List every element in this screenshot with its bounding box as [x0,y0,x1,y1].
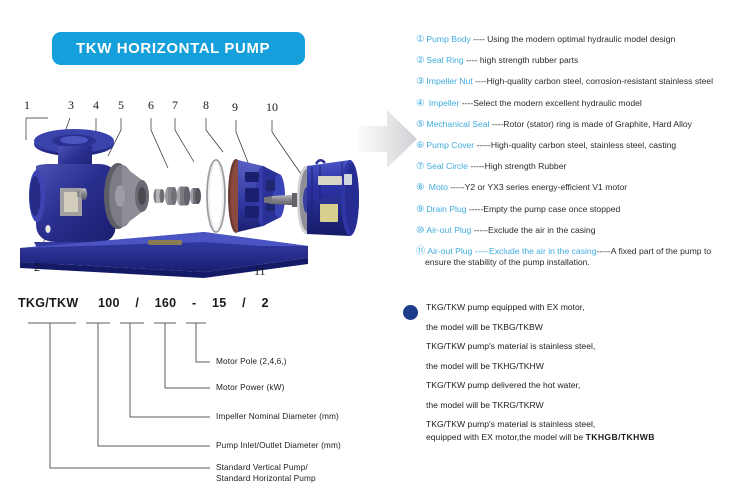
spec-item-name: Seal Circle [426,161,468,171]
spec-item-name: Air-out Plug -----Exclude the air in the… [427,246,596,256]
circled-number-icon: ② [416,54,424,65]
spec-item-name: Moto [426,182,448,192]
circled-number-icon: ① [416,33,424,44]
note-line-1: TKG/TKW pump equipped with EX motor, [426,302,753,312]
circled-number-icon: ⑧ [416,181,424,192]
spec-item-name: Pump Cover [426,140,474,150]
note-line-7: TKG/TKW pump's material is stainless ste… [426,419,753,429]
note-line-8-model: TKHGB/TKHWB [586,432,655,442]
note-line-8-text: equipped with EX motor,the model will be [426,432,586,442]
circled-number-icon: ⑦ [416,160,424,171]
spec-item-desc: -----Empty the pump case once stopped [467,204,621,214]
spec-item-10: ⑩Air-out Plug -----Exclude the air in th… [416,224,752,236]
spec-item-desc: -----High-quality carbon steel, stainles… [474,140,676,150]
spec-item-7: ⑦Seal Circle -----High strength Rubber [416,160,752,172]
note-line-8: equipped with EX motor,the model will be… [426,432,753,442]
spec-item-6: ⑥Pump Cover -----High-quality carbon ste… [416,139,752,151]
spec-item-desc: -----Y2 or YX3 series energy-efficient V… [448,182,627,192]
model-code-label-pump-type-1: Standard Vertical Pump/ [216,462,308,472]
spec-item-8: ⑧ Moto -----Y2 or YX3 series energy-effi… [416,181,752,193]
spec-item-desc: ----High-quality carbon steel, corrosion… [473,76,713,86]
page-title-banner: TKW HORIZONTAL PUMP [52,32,305,65]
spec-item-desc: ----Select the modern excellent hydrauli… [459,98,641,108]
spec-item-name: Impeller Nut [426,76,472,86]
callout-7: 7 [172,98,178,113]
pump-parts-spec-list: ①Pump Body ---- Using the modern optimal… [416,33,752,274]
spec-item-desc-continued: ensure the stability of the pump install… [416,257,752,268]
callout-3: 3 [68,98,74,113]
model-code-diagram: TKG/TKW 100 / 160 - 15 / 2 [10,296,400,494]
callout-9: 9 [232,100,238,115]
spec-item-desc: ---- high strength rubber parts [464,55,579,65]
circled-number-icon: ⑨ [416,203,424,214]
pump-assembly-illustration [8,96,368,286]
spec-item-5: ⑤Mechanical Seal ----Rotor (stator) ring… [416,118,752,130]
circled-number-icon: ⑥ [416,139,424,150]
note-line-5: TKG/TKW pump delivered the hot water, [426,380,753,390]
model-code-label-motor-pole: Motor Pole (2,4,6,) [216,356,287,366]
callout-11: 11 [254,264,266,279]
exploded-pump-figure: 1 3 4 5 6 7 8 9 10 2 11 [8,96,368,286]
spec-item-name: Impeller [426,98,459,108]
callout-2: 2 [34,260,40,275]
spec-item-name: Drain Plug [426,204,466,214]
spec-item-desc: ----Rotor (stator) ring is made of Graph… [489,119,692,129]
bullet-dot-icon [403,305,418,320]
circled-number-icon: ③ [416,75,424,86]
spec-item-desc: ---- Using the modern optimal hydraulic … [471,34,675,44]
circled-number-icon: ⑪ [416,245,425,256]
spec-item-name: Mechanical Seal [426,119,489,129]
spec-item-4: ④ Impeller ----Select the modern excelle… [416,97,752,109]
model-variant-notes: TKG/TKW pump equipped with EX motor, the… [403,302,753,452]
spec-item-name: Air-out Plug [426,225,471,235]
circled-number-icon: ⑤ [416,118,424,129]
model-code-leader-lines [10,296,400,494]
callout-4: 4 [93,98,99,113]
spec-item-name: Seal Ring [426,55,463,65]
callout-1: 1 [24,98,30,113]
spec-item-9: ⑨Drain Plug -----Empty the pump case onc… [416,203,752,215]
spec-item-1: ①Pump Body ---- Using the modern optimal… [416,33,752,45]
spec-item-desc: -----Exclude the air in the casing [471,225,595,235]
callout-5: 5 [118,98,124,113]
spec-item-name: Pump Body [426,34,470,44]
callout-10: 10 [266,100,278,115]
note-line-6: the model will be TKRG/TKRW [426,400,753,410]
model-code-label-impeller-diameter: Impeller Nominal Diameter (mm) [216,411,339,421]
circled-number-icon: ④ [416,97,424,108]
page-canvas: TKW HORIZONTAL PUMP [0,0,756,500]
page-title: TKW HORIZONTAL PUMP [52,40,270,57]
model-code-label-pump-type-2: Standard Horizontal Pump [216,473,316,483]
model-code-label-motor-power: Motor Power (kW) [216,382,284,392]
model-code-label-inlet-diameter: Pump Inlet/Outlet Diameter (mm) [216,440,341,450]
spec-item-desc: -----A fixed part of the pump to [596,246,711,256]
spec-item-3: ③Impeller Nut ----High-quality carbon st… [416,75,752,87]
spec-item-11: ⑪Air-out Plug -----Exclude the air in th… [416,245,752,268]
note-line-3: TKG/TKW pump's material is stainless ste… [426,341,753,351]
note-line-4: the model will be TKHG/TKHW [426,361,753,371]
circled-number-icon: ⑩ [416,224,424,235]
callout-8: 8 [203,98,209,113]
callout-6: 6 [148,98,154,113]
flow-arrow [357,104,419,174]
spec-item-desc: -----High strength Rubber [468,161,566,171]
spec-item-2: ②Seal Ring ---- high strength rubber par… [416,54,752,66]
note-line-2: the model will be TKBG/TKBW [426,322,753,332]
